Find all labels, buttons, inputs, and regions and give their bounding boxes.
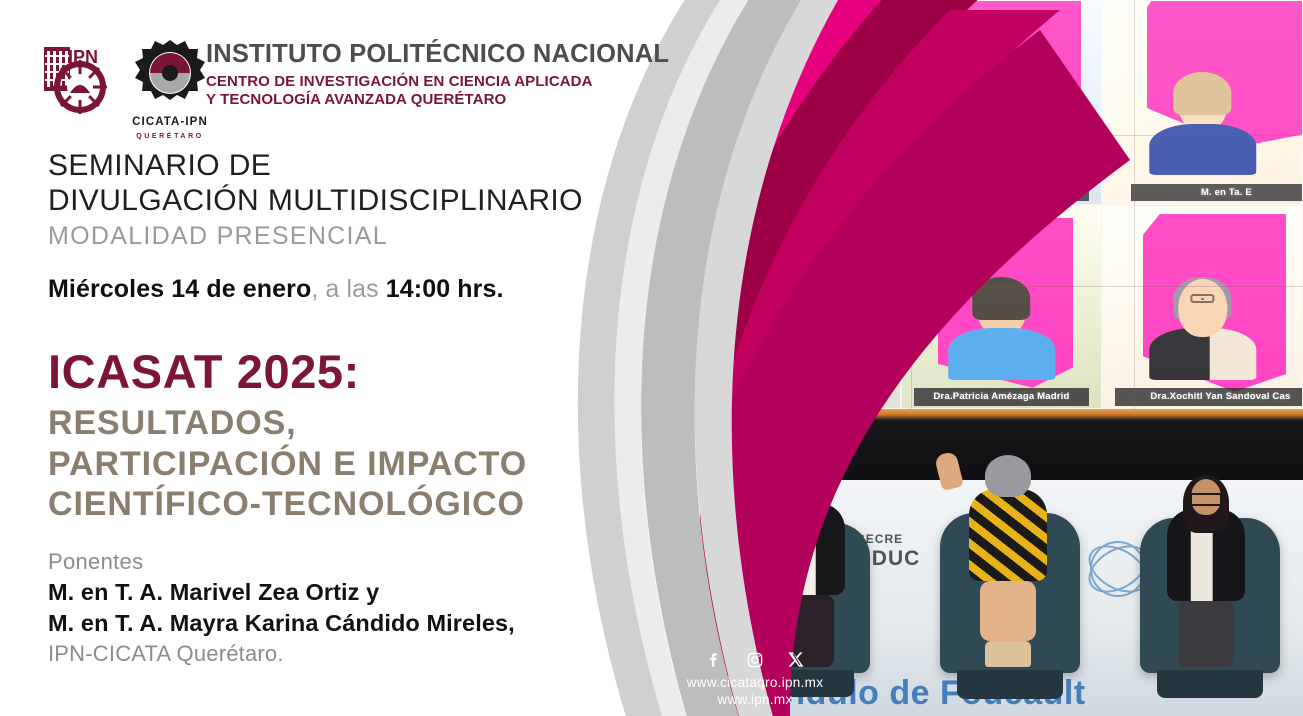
institution-subtitle-line1: CENTRO DE INVESTIGACIÓN EN CIENCIA APLIC…: [206, 73, 669, 92]
event-time: 14:00 hrs.: [386, 275, 504, 303]
date-connector: , a las: [311, 275, 385, 303]
website-url-ipn[interactable]: www.ipn.mx: [640, 692, 870, 709]
speakers-block: Ponentes M. en T. A. Marivel Zea Ortiz y…: [48, 548, 515, 668]
speaker-name-2: M. en T. A. Mayra Karina Cándido Mireles…: [48, 608, 515, 639]
institution-text-block: INSTITUTO POLITÉCNICO NACIONAL CENTRO DE…: [206, 40, 669, 110]
social-footer: www.cicataqro.ipn.mx www.ipn.mx: [640, 650, 870, 709]
talk-title-sub-1: RESULTADOS,: [48, 403, 527, 444]
event-datetime: Miércoles 14 de enero, a las 14:00 hrs.: [48, 275, 504, 304]
cicata-sub-wordmark: QUERÉTARO: [122, 133, 218, 140]
facebook-icon[interactable]: [705, 650, 724, 669]
cicata-logo: CICATA-IPN QUERÉTARO: [122, 36, 218, 138]
magenta-swoosh-overlay: [700, 0, 1303, 716]
speakers-organization: IPN-CICATA Querétaro.: [48, 639, 515, 669]
talk-title-main: ICASAT 2025:: [48, 347, 527, 397]
ipn-logo: IPN: [40, 41, 108, 133]
institution-title: INSTITUTO POLITÉCNICO NACIONAL: [206, 40, 669, 69]
svg-text:IPN: IPN: [68, 47, 98, 67]
seminar-line-2: DIVULGACIÓN MULTIDISCIPLINARIO: [48, 183, 583, 218]
left-text-panel: IPN CICATA-IPN QUERÉTARO: [0, 0, 700, 716]
cicata-wordmark: CICATA-IPN: [122, 116, 218, 128]
talk-title-sub-3: CIENTÍFICO-TECNOLÓGICO: [48, 484, 527, 525]
talk-title-block: ICASAT 2025: RESULTADOS, PARTICIPACIÓN E…: [48, 347, 527, 525]
poster-canvas: Dra.Carolina Leyva Inzunza Dra.Diana Lor…: [0, 0, 1303, 716]
talk-title-sub-2: PARTICIPACIÓN E IMPACTO: [48, 444, 527, 485]
logo-group: IPN CICATA-IPN QUERÉTARO: [40, 36, 218, 138]
seminar-modality: MODALIDAD PRESENCIAL: [48, 220, 583, 253]
website-url-cicata[interactable]: www.cicataqro.ipn.mx: [640, 675, 870, 692]
seminar-heading: SEMINARIO DE DIVULGACIÓN MULTIDISCIPLINA…: [48, 148, 583, 252]
seminar-line-1: SEMINARIO DE: [48, 148, 583, 183]
institution-subtitle-line2: Y TECNOLOGÍA AVANZADA QUERÉTARO: [206, 91, 669, 110]
speakers-label: Ponentes: [48, 548, 515, 577]
instagram-icon[interactable]: [746, 650, 765, 669]
speaker-name-1: M. en T. A. Marivel Zea Ortiz y: [48, 577, 515, 608]
event-date: Miércoles 14 de enero: [48, 275, 311, 303]
x-twitter-icon[interactable]: [787, 650, 806, 669]
photo-collage: Dra.Carolina Leyva Inzunza Dra.Diana Lor…: [700, 0, 1303, 716]
